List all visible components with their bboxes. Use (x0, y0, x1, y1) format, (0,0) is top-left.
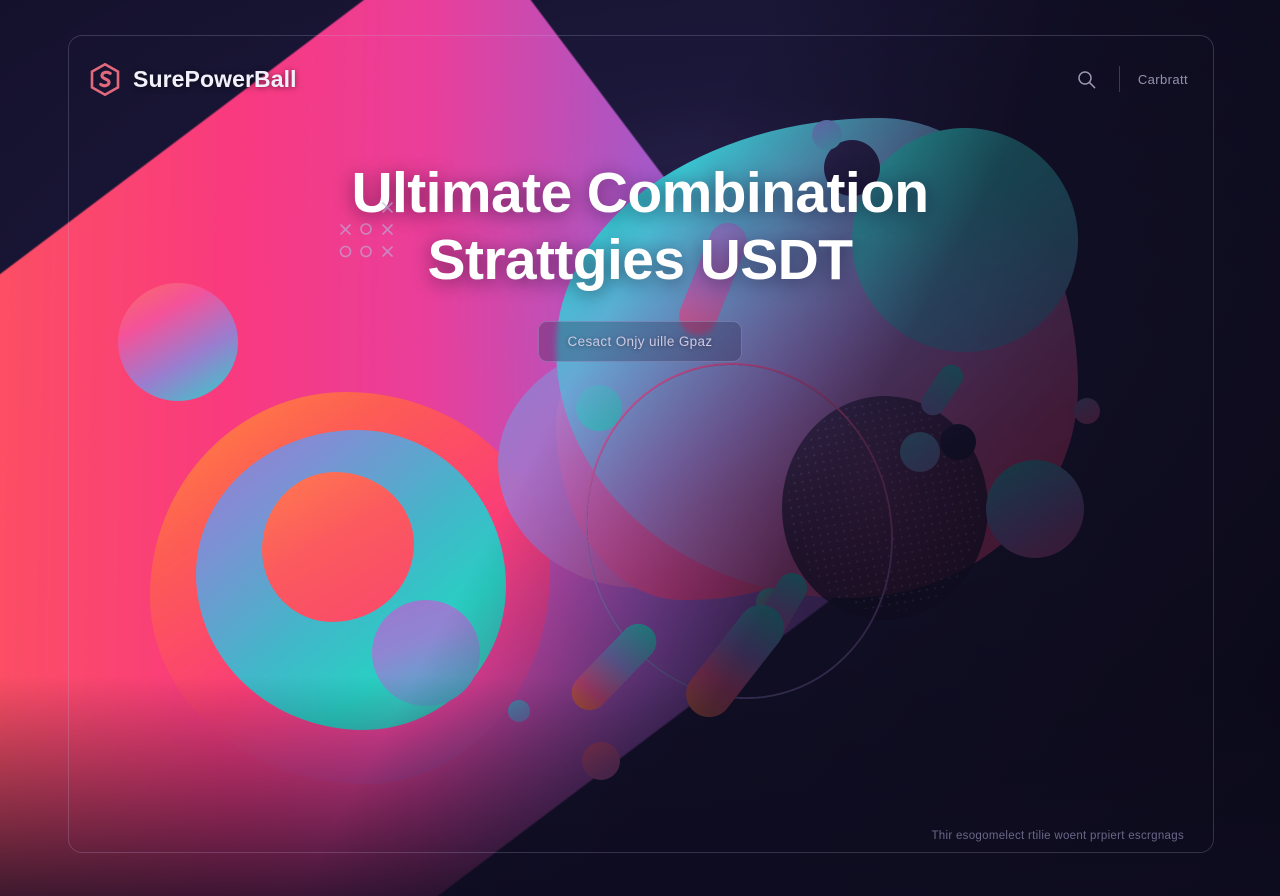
brand-name: SurePowerBall (133, 66, 297, 93)
footer-note: Thir esogomelect rtilie woent prpiert es… (931, 830, 1184, 842)
hexagon-s-logo-icon (90, 63, 120, 96)
decor-dark-wedge (0, 0, 1280, 896)
hero-page-stage: SurePowerBall Carbratt Ultimate Combinat… (0, 0, 1280, 896)
primary-cta-button[interactable]: Cesact Onjy uille Gpaz (538, 321, 741, 362)
header-divider (1119, 66, 1120, 92)
nav-link-contact[interactable]: Carbratt (1138, 72, 1188, 87)
search-icon (1077, 70, 1096, 89)
header-actions: Carbratt (1073, 65, 1188, 93)
hero-cta-wrap: Cesact Onjy uille Gpaz (538, 321, 741, 362)
search-button[interactable] (1073, 65, 1101, 93)
brand-logo[interactable]: SurePowerBall (90, 63, 297, 96)
page-header: SurePowerBall Carbratt (68, 35, 1214, 123)
